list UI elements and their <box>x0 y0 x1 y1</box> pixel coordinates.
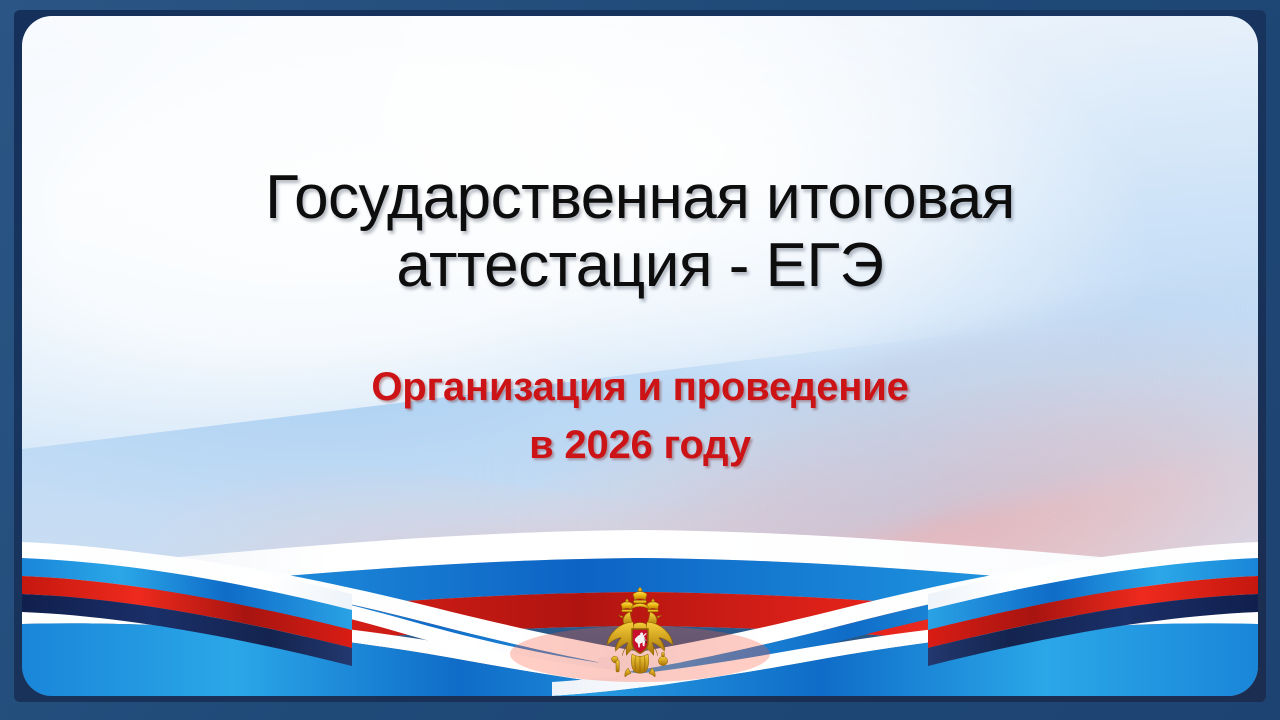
presentation-slide: Государственная итоговая аттестация - ЕГ… <box>0 0 1280 720</box>
slide-subtitle-line-2: в 2026 году <box>132 416 1148 474</box>
slide-subtitle: Организация и проведение в 2026 году <box>22 358 1258 474</box>
slide-canvas: Государственная итоговая аттестация - ЕГ… <box>22 16 1258 696</box>
title-block: Государственная итоговая аттестация - ЕГ… <box>22 164 1258 474</box>
slide-subtitle-line-1: Организация и проведение <box>132 358 1148 416</box>
slide-title: Государственная итоговая аттестация - ЕГ… <box>22 164 1258 300</box>
